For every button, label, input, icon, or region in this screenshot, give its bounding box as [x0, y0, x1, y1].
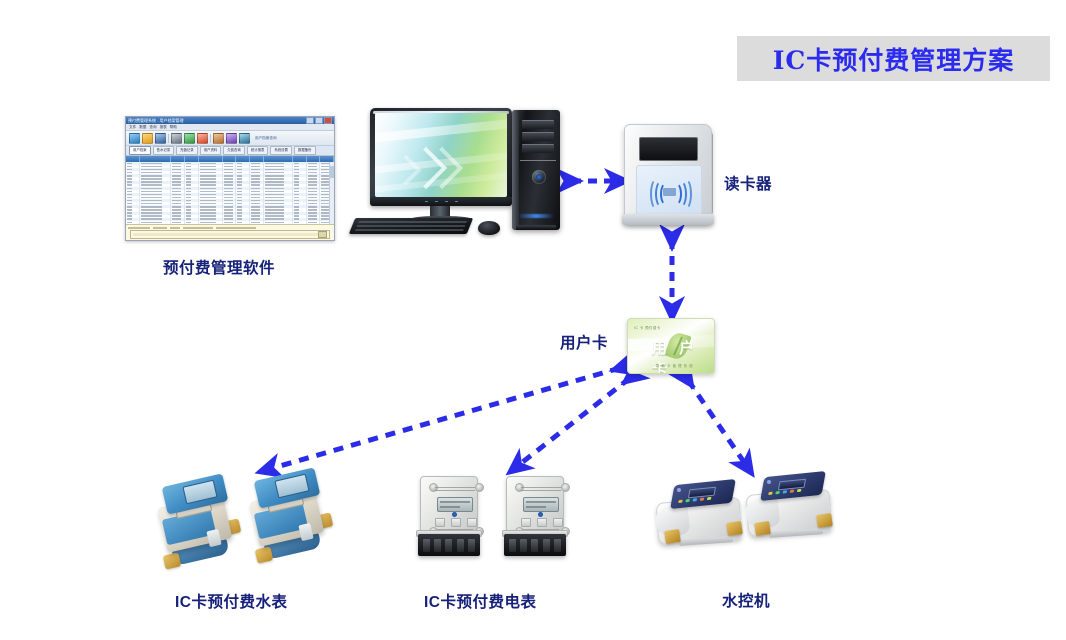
- summary-line: [128, 226, 332, 229]
- diagram-title-banner: IC卡预付费管理方案: [737, 36, 1050, 81]
- monitor-led-icon: [425, 201, 428, 203]
- table-cell: [185, 221, 199, 224]
- meter-indicator-led: [538, 512, 543, 517]
- keyboard-row: [355, 229, 464, 231]
- arrow-card-to-electric-meter: [515, 378, 630, 468]
- water-controller-label: 水控机: [722, 589, 770, 611]
- software-tab-bar[interactable]: 用户档案 售水记录 充值记录 用户资料 欠费查询 统计报表 系统设置 数据备份: [126, 146, 334, 156]
- table-cell: [293, 221, 307, 224]
- menu-item-report[interactable]: 报表: [160, 124, 167, 130]
- computer-tower-icon[interactable]: [512, 110, 560, 230]
- mouse-icon[interactable]: [478, 221, 500, 235]
- toolbar-new-icon[interactable]: [129, 133, 140, 144]
- software-window-icon[interactable]: 预付费管理系统 - 用户档案管理 文件 数据 查询 报表 帮助: [125, 116, 335, 241]
- table-cell: [250, 221, 264, 224]
- monitor-screen: [375, 113, 507, 197]
- meter-nameplate: [435, 487, 475, 493]
- toolbar-separator-2: [210, 134, 211, 143]
- card-face-text: 用 户 卡: [652, 337, 714, 374]
- close-icon[interactable]: [324, 117, 332, 124]
- electric-meter-icon[interactable]: [500, 472, 574, 568]
- meter-shell: [506, 476, 564, 536]
- meter-key-row[interactable]: [521, 518, 563, 527]
- menu-item-help[interactable]: 帮助: [170, 124, 177, 130]
- tab-recharge-record[interactable]: 充值记录: [176, 146, 198, 155]
- diagram-canvas: IC卡预付费管理方案 预付费管理系统 - 用户档案管理 文: [0, 0, 1066, 640]
- find-button[interactable]: [318, 231, 327, 238]
- electric-meter-icon[interactable]: [414, 472, 488, 568]
- tab-arrears-query[interactable]: 欠费查询: [223, 146, 245, 155]
- table-row[interactable]: [126, 221, 334, 224]
- tower-edge: [512, 110, 519, 230]
- keyboard-icon[interactable]: [349, 218, 473, 234]
- reader-lcd-display: [639, 137, 698, 161]
- monitor-led-icon: [435, 201, 438, 203]
- card-bottom-microtext: 智 能 卡 管 理 系 统: [656, 363, 693, 368]
- tower-drive-bay: [522, 120, 554, 129]
- table-cell: [140, 221, 172, 224]
- window-controls[interactable]: [306, 117, 332, 124]
- maximize-icon[interactable]: [315, 117, 323, 124]
- brass-fitting-icon: [816, 513, 833, 528]
- menu-item-data[interactable]: 数据: [139, 124, 146, 130]
- keyboard-row: [357, 225, 466, 227]
- minimize-icon[interactable]: [306, 117, 314, 124]
- software-menubar[interactable]: 文件 数据 查询 报表 帮助: [126, 124, 334, 131]
- data-grid-body[interactable]: [126, 162, 334, 224]
- toolbar-search-icon[interactable]: [184, 133, 195, 144]
- tab-statistics[interactable]: 统计报表: [247, 146, 269, 155]
- software-toolbar[interactable]: 用户档案查询: [126, 131, 334, 146]
- reader-label: 读卡器: [724, 172, 772, 194]
- reader-rfid-pad[interactable]: [636, 165, 702, 219]
- brass-fitting-icon: [163, 552, 182, 569]
- terminal-block: [504, 534, 566, 556]
- water-controller-icon[interactable]: [655, 480, 747, 554]
- tab-system-settings[interactable]: 系统设置: [270, 146, 292, 155]
- desktop-computer-icon[interactable]: [352, 108, 567, 243]
- find-bar[interactable]: [130, 230, 330, 239]
- tower-foot: [516, 225, 556, 230]
- meter-key-row[interactable]: [435, 518, 477, 527]
- menu-item-query[interactable]: 查询: [149, 124, 156, 130]
- tab-data-backup[interactable]: 数据备份: [294, 146, 316, 155]
- toolbar-open-icon[interactable]: [142, 133, 153, 144]
- meter-lcd-display: [523, 497, 559, 512]
- card-reader-icon[interactable]: [624, 118, 720, 228]
- arrow-card-to-water-meter: [266, 368, 620, 470]
- table-cell: [199, 221, 223, 224]
- toolbar-separator: [168, 134, 169, 143]
- software-window-titlebar: 预付费管理系统 - 用户档案管理: [126, 117, 334, 124]
- tower-split-line: [520, 160, 556, 161]
- brass-fitting-icon: [754, 521, 771, 536]
- diagram-title: IC卡预付费管理方案: [773, 41, 1015, 77]
- tower-drive-bay: [522, 132, 554, 141]
- tab-user-info[interactable]: 用户资料: [200, 146, 222, 155]
- toolbar-card-icon[interactable]: [226, 133, 237, 144]
- toolbar-save-icon[interactable]: [155, 133, 166, 144]
- keyboard-row: [358, 221, 467, 223]
- toolbar-label: 用户档案查询: [255, 136, 277, 141]
- terminal-block: [418, 534, 480, 556]
- screw-hole-icon: [475, 483, 484, 492]
- wallpaper-band: [375, 117, 507, 143]
- reader-base: [622, 214, 714, 225]
- monitor-icon: [370, 108, 512, 206]
- grid-summary-panel: [126, 224, 334, 241]
- menu-item-file[interactable]: 文件: [129, 124, 136, 130]
- find-input[interactable]: [133, 233, 318, 236]
- meter-shell: [420, 476, 478, 536]
- monitor-led-icon: [445, 201, 448, 203]
- table-cell: [264, 221, 293, 224]
- software-label: 预付费管理软件: [163, 256, 275, 278]
- tower-drive-bay: [522, 144, 554, 153]
- toolbar-refresh-icon[interactable]: [197, 133, 208, 144]
- meter-nameplate: [521, 487, 561, 493]
- table-cell: [126, 221, 140, 224]
- ic-card-icon[interactable]: IC 卡 预付费卡 用 户 卡 智 能 卡 管 理 系 统: [627, 318, 715, 374]
- arrow-card-to-water-controller: [688, 380, 748, 468]
- brass-fitting-icon: [726, 521, 743, 536]
- water-controller-icon[interactable]: [745, 472, 837, 546]
- brass-fitting-icon: [664, 529, 681, 544]
- rfid-wave-icon: [643, 179, 695, 205]
- water-meter-icon[interactable]: [160, 474, 252, 578]
- screw-hole-icon: [561, 483, 570, 492]
- table-cell: [307, 221, 321, 224]
- table-cell: [171, 221, 185, 224]
- meter-lcd-display: [437, 497, 473, 512]
- toolbar-user-icon[interactable]: [213, 133, 224, 144]
- water-meter-label: IC卡预付费水表: [175, 590, 288, 612]
- brass-fitting-icon: [255, 546, 274, 563]
- electric-meter-label: IC卡预付费电表: [424, 590, 537, 612]
- user-card-label: 用户卡: [560, 331, 608, 353]
- table-cell: [236, 221, 250, 224]
- meter-indicator-led: [452, 512, 457, 517]
- tab-user-archive[interactable]: 用户档案: [129, 146, 151, 155]
- card-top-microtext: IC 卡 预付费卡: [634, 325, 661, 330]
- monitor-led-icon: [455, 201, 458, 203]
- toolbar-exit-icon[interactable]: [239, 133, 250, 144]
- tab-sale-record[interactable]: 售水记录: [153, 146, 175, 155]
- monitor-chin: [370, 197, 512, 206]
- software-window-title: 预付费管理系统 - 用户档案管理: [128, 117, 306, 124]
- power-button-icon[interactable]: [532, 170, 546, 184]
- grid-vertical-scrollbar[interactable]: [329, 162, 334, 224]
- table-cell: [223, 221, 237, 224]
- reader-body: [624, 124, 712, 224]
- tower-led-glow: [518, 214, 554, 218]
- water-meter-icon[interactable]: [252, 468, 344, 572]
- toolbar-print-icon[interactable]: [171, 133, 182, 144]
